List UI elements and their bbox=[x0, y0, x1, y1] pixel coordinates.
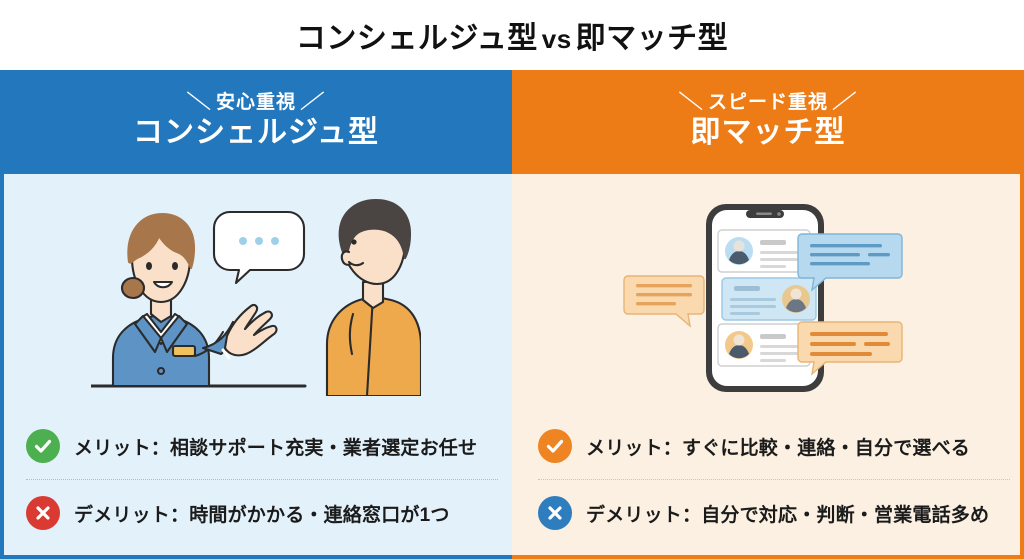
bullet-demerit-text: デメリット：時間がかかる・連絡窓口が1つ bbox=[74, 500, 450, 527]
illustration-concierge-conversation bbox=[0, 174, 512, 413]
slash-left-icon: ＼ bbox=[673, 93, 711, 114]
slash-left-icon: ＼ bbox=[181, 93, 219, 114]
bullet-demerit-instant-match: デメリット：自分で対応・判断・営業電話多め bbox=[538, 480, 1010, 546]
column-header-concierge: ＼安心重視／ コンシェルジュ型 bbox=[0, 70, 512, 174]
column-heading-concierge: コンシェルジュ型 bbox=[133, 116, 379, 151]
profile-card-2 bbox=[722, 278, 816, 320]
column-kicker-concierge: ＼安心重視／ bbox=[184, 93, 328, 114]
comparison-columns: ＼安心重視／ コンシェルジュ型 bbox=[0, 70, 1024, 559]
customer-figure bbox=[327, 200, 421, 396]
kicker-text: 安心重視 bbox=[216, 92, 296, 113]
bullet-list-concierge: メリット：相談サポート充実・業者選定お任せ デメリット：時間がかかる・連絡窓口が… bbox=[0, 413, 512, 559]
check-circle-icon bbox=[26, 429, 60, 463]
title-right-part: 即マッチ型 bbox=[576, 22, 729, 55]
profile-card-1 bbox=[718, 230, 810, 272]
illustration-smartphone-matching bbox=[512, 174, 1024, 413]
check-circle-icon bbox=[538, 429, 572, 463]
bullet-demerit-concierge: デメリット：時間がかかる・連絡窓口が1つ bbox=[26, 480, 498, 546]
page-title: コンシェルジュ型vs即マッチ型 bbox=[296, 13, 728, 57]
bullet-demerit-text: デメリット：自分で対応・判断・営業電話多め bbox=[586, 500, 989, 527]
bullet-list-instant-match: メリット：すぐに比較・連絡・自分で選べる デメリット：自分で対応・判断・営業電話… bbox=[512, 413, 1024, 559]
profile-card-3 bbox=[718, 324, 810, 366]
comparison-infographic: コンシェルジュ型vs即マッチ型 ＼安心重視／ コンシェルジュ型 bbox=[0, 0, 1024, 559]
title-bar: コンシェルジュ型vs即マッチ型 bbox=[0, 0, 1024, 70]
bullet-merit-concierge: メリット：相談サポート充実・業者選定お任せ bbox=[26, 413, 498, 480]
kicker-text: スピード重視 bbox=[708, 92, 828, 113]
chat-bubble-orange-left bbox=[624, 276, 704, 326]
x-circle-icon bbox=[538, 496, 572, 530]
column-instant-match: ＼スピード重視／ 即マッチ型 bbox=[512, 70, 1024, 559]
bullet-merit-text: メリット：相談サポート充実・業者選定お任せ bbox=[74, 433, 477, 460]
slash-right-icon: ／ bbox=[825, 93, 863, 114]
title-vs: vs bbox=[538, 24, 576, 54]
column-concierge: ＼安心重視／ コンシェルジュ型 bbox=[0, 70, 512, 559]
column-heading-instant-match: 即マッチ型 bbox=[691, 116, 846, 151]
chat-bubble-orange-right bbox=[798, 322, 902, 374]
chat-bubble-blue bbox=[798, 234, 902, 290]
x-circle-icon bbox=[26, 496, 60, 530]
speech-bubble-icon bbox=[214, 212, 304, 283]
bullet-merit-text: メリット：すぐに比較・連絡・自分で選べる bbox=[586, 433, 970, 460]
concierge-conversation-svg bbox=[91, 196, 421, 396]
column-header-instant-match: ＼スピード重視／ 即マッチ型 bbox=[512, 70, 1024, 174]
smartphone-matching-svg bbox=[618, 196, 918, 396]
title-left-part: コンシェルジュ型 bbox=[296, 22, 538, 55]
bullet-merit-instant-match: メリット：すぐに比較・連絡・自分で選べる bbox=[538, 413, 1010, 480]
column-kicker-instant-match: ＼スピード重視／ bbox=[676, 93, 860, 114]
slash-right-icon: ／ bbox=[293, 93, 331, 114]
